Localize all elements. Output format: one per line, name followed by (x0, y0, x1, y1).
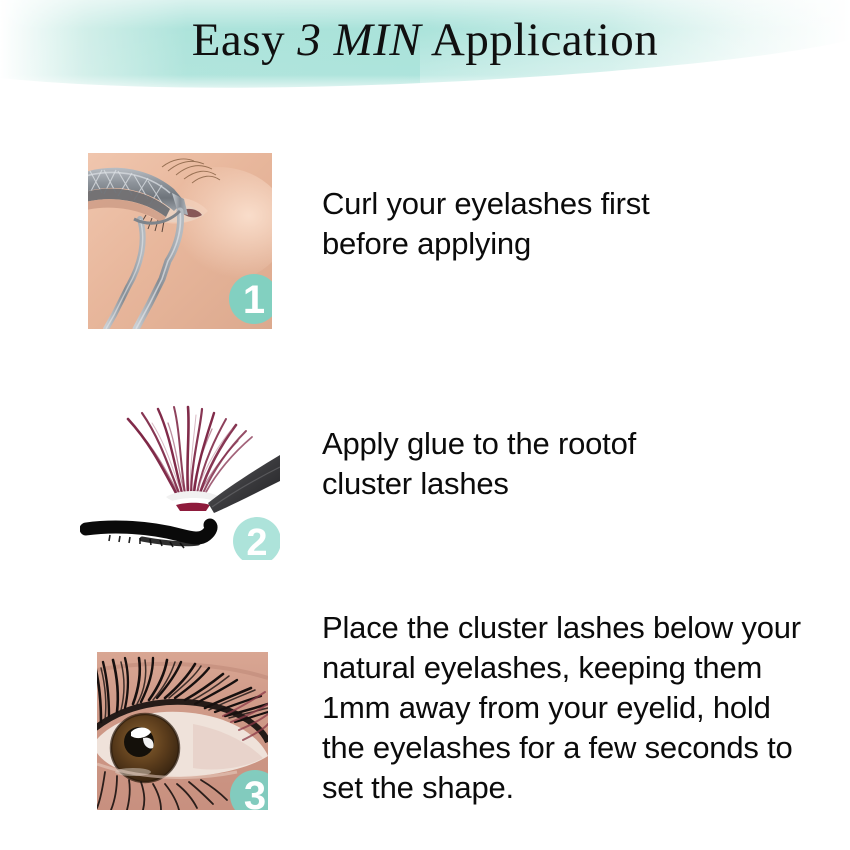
step-3-line-2: natural eyelashes, keeping them (322, 648, 801, 688)
step-3-line-5: set the shape. (322, 768, 801, 808)
step-3-text: Place the cluster lashes below your natu… (322, 608, 801, 808)
cluster-lash-tweezers-photo: 2 (80, 385, 280, 560)
step-3-line-3: 1mm away from your eyelid, hold (322, 688, 801, 728)
step-2-image: 2 (80, 385, 280, 560)
step-2-line-2: cluster lashes (322, 464, 636, 504)
step-3: 3 Place the cluster lashes below your na… (0, 0, 850, 250)
applied-lashes-eye-photo: 3 (97, 652, 268, 810)
step-2-badge-label: 2 (246, 522, 267, 560)
step-3-badge-label: 3 (244, 774, 266, 810)
step-1-badge-label: 1 (243, 278, 265, 322)
step-2-text: Apply glue to the rootof cluster lashes (322, 424, 636, 504)
step-3-line-1: Place the cluster lashes below your (322, 608, 801, 648)
step-3-line-4: the eyelashes for a few seconds to (322, 728, 801, 768)
step-2-line-1: Apply glue to the rootof (322, 424, 636, 464)
step-3-image: 3 (97, 652, 268, 810)
